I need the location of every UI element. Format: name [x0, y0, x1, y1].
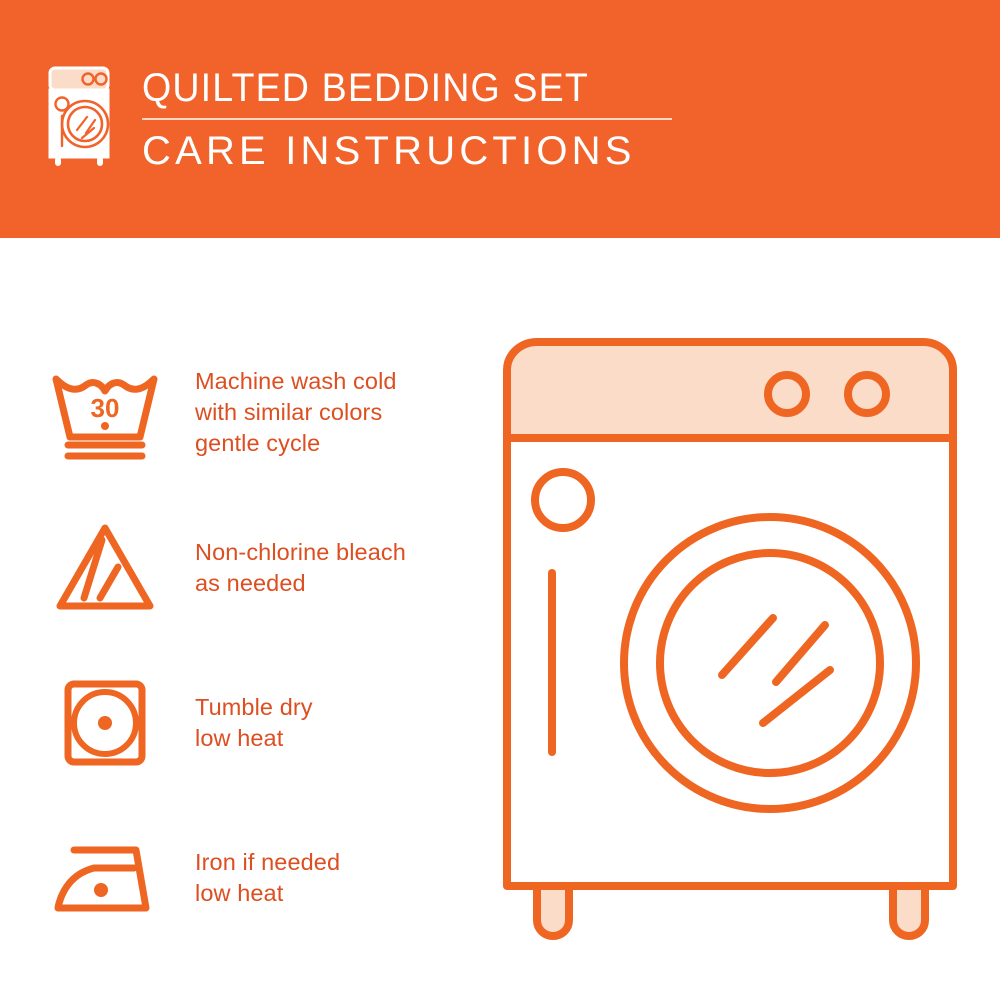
washing-machine-icon	[44, 62, 116, 172]
care-instructions-page: QUILTED BEDDING SET CARE INSTRUCTIONS 30…	[0, 0, 1000, 1000]
care-text: Machine wash cold with similar colors ge…	[195, 366, 397, 459]
care-row: Non-chlorine bleach as needed	[40, 490, 480, 645]
care-instructions-list: 30 Machine wash cold with similar colors…	[40, 335, 480, 955]
care-text-line: Iron if needed	[195, 847, 340, 878]
washing-machine-illustration	[495, 330, 965, 940]
leg-left	[537, 886, 569, 936]
care-text-line: Machine wash cold	[195, 366, 397, 397]
care-text: Non-chlorine bleach as needed	[195, 537, 406, 599]
wash-temperature-label: 30	[91, 393, 120, 423]
page-subtitle: CARE INSTRUCTIONS	[142, 128, 672, 174]
title-divider	[142, 118, 672, 120]
care-row: 30 Machine wash cold with similar colors…	[40, 335, 480, 490]
header-banner: QUILTED BEDDING SET CARE INSTRUCTIONS	[0, 0, 1000, 238]
care-text-line: gentle cycle	[195, 428, 397, 459]
page-title: QUILTED BEDDING SET	[142, 66, 640, 110]
header-content: QUILTED BEDDING SET CARE INSTRUCTIONS	[44, 62, 672, 174]
care-text-line: low heat	[195, 723, 313, 754]
leg-right	[893, 886, 925, 936]
care-row: Iron if needed low heat	[40, 800, 480, 955]
tumble-dry-low-heat-icon	[40, 673, 170, 773]
care-text-line: as needed	[195, 568, 406, 599]
wash-tub-30-gentle-icon: 30	[40, 363, 170, 463]
iron-low-heat-icon	[40, 828, 170, 928]
care-text-line: Non-chlorine bleach	[195, 537, 406, 568]
care-text-line: Tumble dry	[195, 692, 313, 723]
non-chlorine-bleach-triangle-icon	[40, 518, 170, 618]
care-text: Tumble dry low heat	[195, 692, 313, 754]
care-text: Iron if needed low heat	[195, 847, 340, 909]
care-text-line: low heat	[195, 878, 340, 909]
title-block: QUILTED BEDDING SET CARE INSTRUCTIONS	[142, 62, 672, 174]
care-text-line: with similar colors	[195, 397, 397, 428]
care-row: Tumble dry low heat	[40, 645, 480, 800]
